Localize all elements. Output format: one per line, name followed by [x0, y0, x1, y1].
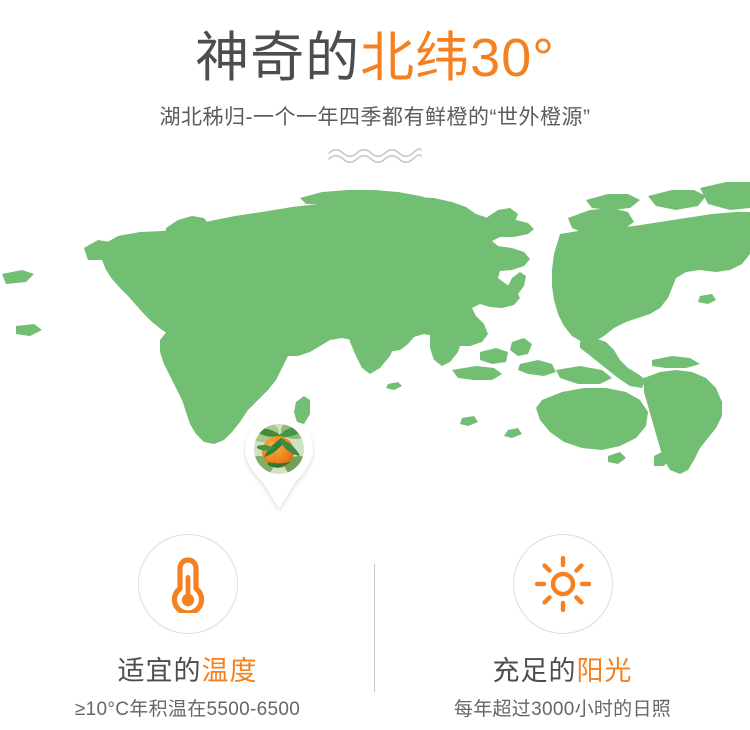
feature-temperature: 适宜的温度 ≥10°C年积温在5500-6500	[0, 530, 375, 730]
japan	[506, 272, 526, 298]
feature-sunlight: 充足的阳光 每年超过3000小时的日照	[375, 530, 750, 730]
feature-description: 每年超过3000小时的日照	[454, 698, 671, 722]
feature-title: 适宜的温度	[118, 655, 258, 687]
feature-title-plain: 适宜的	[118, 656, 202, 686]
pacific-island-a	[460, 416, 478, 426]
world-map-section	[0, 174, 750, 474]
feature-description: ≥10°C年积温在5500-6500	[75, 698, 300, 722]
feature-title: 充足的阳光	[493, 655, 633, 687]
sulawesi-newguinea	[518, 360, 556, 376]
page-title: 神奇的北纬30°	[0, 26, 750, 90]
feature-title-accent: 温度	[202, 656, 258, 686]
thermometer-icon	[164, 555, 212, 613]
feature-icon-circle	[138, 534, 238, 634]
page-subtitle: 湖北秭归-一个一年四季都有鲜橙的“世外橙源”	[0, 104, 750, 132]
australia	[536, 388, 648, 450]
feature-section: 适宜的温度 ≥10°C年积温在5500-6500 充足的阳光	[0, 530, 750, 730]
wave-divider-icon	[327, 146, 423, 166]
far-west-landmass	[2, 270, 34, 284]
north-america	[552, 212, 750, 342]
map-pin[interactable]	[243, 416, 315, 512]
pacific-island-b	[504, 428, 522, 438]
philippines	[510, 338, 532, 356]
borneo	[480, 348, 508, 364]
page-header: 神奇的北纬30° 湖北秭归-一个一年四季都有鲜橙的“世外橙源”	[0, 0, 750, 132]
new-guinea	[556, 366, 612, 384]
arctic-islands-west	[586, 194, 640, 210]
feature-title-accent: 阳光	[577, 656, 633, 686]
map-landmass	[2, 182, 750, 474]
wave-divider	[0, 146, 750, 168]
sun-icon	[535, 556, 591, 612]
indian-ocean-island	[386, 382, 402, 390]
india	[348, 320, 396, 374]
indochina	[430, 330, 462, 366]
page-title-accent: 北纬30°	[360, 28, 555, 88]
atlantic-island-west	[16, 324, 42, 336]
siberia-coast	[300, 190, 434, 206]
greenland	[700, 182, 750, 210]
sumatra-java	[452, 366, 502, 380]
bermuda	[698, 294, 716, 304]
feature-title-plain: 充足的	[493, 656, 577, 686]
arctic-islands-east	[648, 190, 706, 210]
feature-icon-circle	[513, 534, 613, 634]
page-title-plain: 神奇的	[195, 28, 360, 88]
caribbean	[652, 356, 700, 368]
world-map-svg	[0, 174, 750, 474]
tasmania	[608, 452, 626, 464]
